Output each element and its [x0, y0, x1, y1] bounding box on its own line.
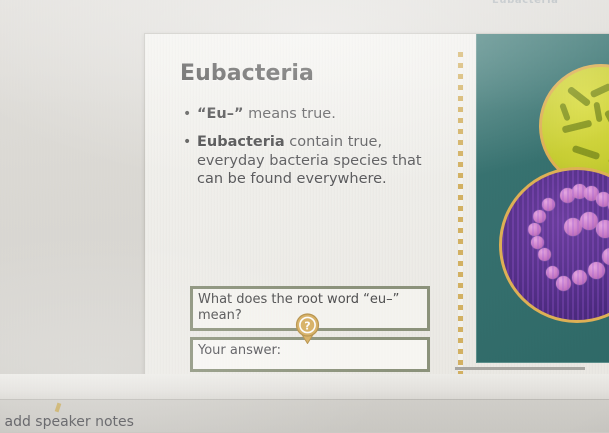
speaker-notes-placeholder[interactable]: to add speaker notes	[0, 414, 134, 430]
purple-bacteria-cell	[499, 167, 609, 323]
list-item: • “Eu–” means true.	[180, 105, 432, 124]
slide-bullet-list: • “Eu–” means true. • Eubacteria contain…	[180, 105, 432, 198]
bullet-text: Eubacteria contain true, everyday bacter…	[197, 133, 432, 189]
notes-cursor-icon	[55, 403, 62, 413]
top-cutoff-title: Eubacteria	[492, 0, 588, 4]
bullet-rest: means true.	[244, 106, 336, 122]
bullet-text: “Eu–” means true.	[197, 105, 432, 124]
bullet-marker-icon: •	[180, 105, 197, 124]
speaker-notes-bar[interactable]: to add speaker notes	[0, 399, 609, 433]
below-slide-band	[0, 374, 609, 400]
bacteria-microscope-illustration	[476, 33, 609, 363]
bullet-bold-lead: “Eu–”	[197, 106, 244, 122]
image-underline-rule	[455, 367, 585, 370]
list-item: • Eubacteria contain true, everyday bact…	[180, 133, 432, 189]
dotted-vertical-divider	[458, 52, 463, 374]
svg-text:?: ?	[304, 319, 310, 332]
slide-title: Eubacteria	[180, 61, 314, 86]
bullet-bold-lead: Eubacteria	[197, 134, 285, 150]
question-badge-icon[interactable]: ?	[294, 313, 321, 344]
bullet-marker-icon: •	[180, 133, 197, 152]
slide-canvas[interactable]: Eubacteria • “Eu–” means true. • Eubacte…	[144, 33, 609, 376]
